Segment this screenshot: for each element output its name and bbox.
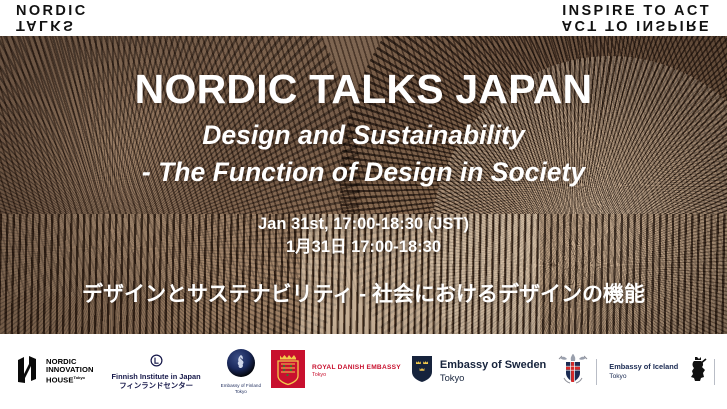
- partner-logo-finnish-institute-in-japan[interactable]: Finnish Institute in Japan フィンランドセンター: [99, 334, 206, 409]
- royal-danish-embassy-name: ROYAL DANISH EMBASSY: [312, 364, 401, 372]
- icelandic-coat-of-arms: [556, 352, 590, 391]
- nih-line3: HOUSE: [46, 376, 74, 385]
- logo-divider: [596, 359, 597, 385]
- embassy-of-finland-city: Tokyo: [221, 389, 261, 395]
- logo-divider: [714, 359, 715, 385]
- tagline-line2-mirrored: ACT TO INSPIRE: [562, 18, 711, 32]
- event-subtitle-line2: - The Function of Design in Society: [0, 155, 727, 189]
- event-datetime-japanese: 1月31日 17:00-18:30: [0, 236, 727, 259]
- nordic-talks-logo-line2-mirrored: TALKS: [16, 18, 88, 32]
- partner-logo-nordic-innovation-house[interactable]: NORDIC INNOVATION HOUSETokyo: [10, 334, 99, 409]
- embassy-of-finland-lion-emblem: [226, 365, 256, 382]
- inspire-to-act-tagline: INSPIRE TO ACT ACT TO INSPIRE: [562, 4, 711, 32]
- embassy-of-sweden-name: Embassy of Sweden: [440, 359, 546, 372]
- partner-logo-embassy-of-iceland[interactable]: Embassy of Iceland Tokyo: [551, 334, 683, 409]
- event-datetime-block: Jan 31st, 17:00-18:30 (JST) 1月31日 17:00-…: [0, 213, 727, 259]
- header-band: NORDIC TALKS INSPIRE TO ACT ACT TO INSPI…: [0, 0, 727, 36]
- partner-logo-embassy-of-sweden[interactable]: Embassy of Sweden Tokyo: [406, 334, 551, 409]
- partner-logo-norwegian-embassy[interactable]: Norwegian Embassy Tokyo: [683, 334, 727, 409]
- partner-logo-embassy-of-finland[interactable]: Embassy of Finland Tokyo: [206, 334, 266, 409]
- event-subtitle-line1: Design and Sustainability: [0, 118, 727, 152]
- nordic-innovation-house-n-mark: [15, 354, 41, 389]
- embassy-of-sweden-city: Tokyo: [440, 372, 546, 384]
- embassy-of-iceland-city: Tokyo: [609, 372, 678, 381]
- royal-danish-embassy-city: Tokyo: [312, 372, 401, 379]
- nordic-talks-logo: NORDIC TALKS: [16, 4, 88, 32]
- event-datetime-english: Jan 31st, 17:00-18:30 (JST): [0, 213, 727, 236]
- poster-canvas: NORDIC TALKS INSPIRE TO ACT ACT TO INSPI…: [0, 0, 727, 409]
- nih-line2: INNOVATION: [46, 365, 94, 374]
- danish-coat-of-arms-shield: [271, 350, 305, 393]
- finnish-institute-circle-mark: [150, 354, 163, 371]
- partner-logo-bar: NORDIC INNOVATION HOUSETokyo Finnish Ins…: [0, 334, 727, 409]
- finnish-institute-name-en: Finnish Institute in Japan: [112, 372, 201, 381]
- finnish-institute-name-jp: フィンランドセンター: [112, 381, 201, 390]
- norwegian-lion-crest: [688, 356, 708, 387]
- swedish-three-crowns-shield: [411, 355, 433, 388]
- nih-superscript-tokyo: Tokyo: [74, 375, 85, 380]
- event-subtitle-japanese: デザインとサステナビリティ - 社会におけるデザインの機能: [0, 281, 727, 309]
- hero-text-overlay: NORDIC TALKS JAPAN Design and Sustainabi…: [0, 36, 727, 334]
- partner-logo-royal-danish-embassy[interactable]: ROYAL DANISH EMBASSY Tokyo: [266, 334, 406, 409]
- embassy-of-iceland-name: Embassy of Iceland: [609, 362, 678, 372]
- event-title: NORDIC TALKS JAPAN: [0, 36, 727, 112]
- nordic-innovation-house-wordmark: NORDIC INNOVATION HOUSETokyo: [46, 358, 94, 386]
